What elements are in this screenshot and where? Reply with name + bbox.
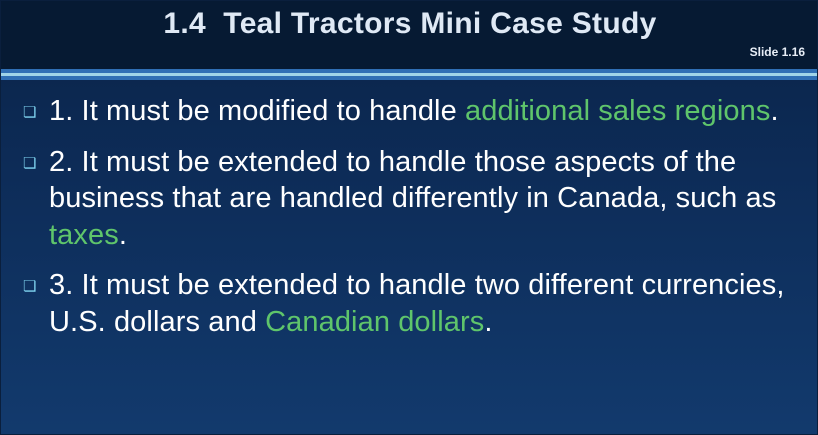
plain-phrase: 2. It must be extended to handle those a… xyxy=(49,146,776,215)
bullet-square-icon: ❏ xyxy=(23,93,49,120)
list-item: ❏3. It must be extended to handle two di… xyxy=(23,267,801,340)
presentation-slide: 1.4 Teal Tractors Mini Case Study Slide … xyxy=(0,0,818,435)
plain-phrase: . xyxy=(484,306,492,338)
list-item: ❏2. It must be extended to handle those … xyxy=(23,144,801,254)
plain-phrase: 1. It must be modified to handle xyxy=(49,95,465,127)
bullet-square-icon: ❏ xyxy=(23,144,49,171)
header-divider xyxy=(1,69,818,83)
slide-number-label: Slide 1.16 xyxy=(750,45,805,59)
bullet-square-icon: ❏ xyxy=(23,267,49,294)
divider-line-bottom xyxy=(1,76,818,80)
plain-phrase: . xyxy=(119,219,127,251)
list-item: ❏1. It must be modified to handle additi… xyxy=(23,93,801,130)
plain-phrase: . xyxy=(770,95,778,127)
highlighted-phrase: Canadian dollars xyxy=(265,306,484,338)
page-title: 1.4 Teal Tractors Mini Case Study xyxy=(1,7,818,41)
bullet-list: ❏1. It must be modified to handle additi… xyxy=(1,93,818,354)
highlighted-phrase: additional sales regions xyxy=(465,95,770,127)
list-item-text: 3. It must be extended to handle two dif… xyxy=(49,267,801,340)
list-item-text: 2. It must be extended to handle those a… xyxy=(49,144,801,254)
list-item-text: 1. It must be modified to handle additio… xyxy=(49,93,801,130)
highlighted-phrase: taxes xyxy=(49,219,119,251)
